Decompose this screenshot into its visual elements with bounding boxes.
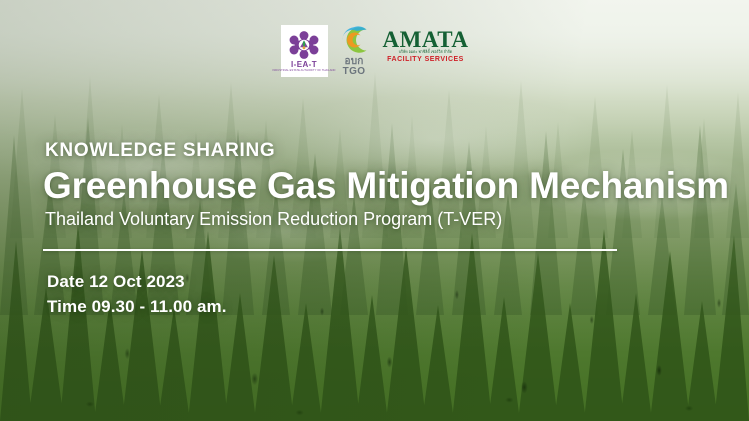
divider bbox=[43, 249, 617, 251]
logo-tgo: อบก TGO bbox=[338, 24, 371, 78]
event-poster: I-EA-T INDUSTRIAL ESTATE AUTHORITY OF TH… bbox=[0, 0, 749, 421]
amata-thai-text: บริษัท อมตะ ฟาซิลิตี้ เซอร์วิส จำกัด bbox=[399, 50, 452, 54]
page-title: Greenhouse Gas Mitigation Mechanism bbox=[43, 167, 729, 205]
eyebrow-label: KNOWLEDGE SHARING bbox=[45, 141, 729, 160]
ieat-subtext: INDUSTRIAL ESTATE AUTHORITY OF THAILAND bbox=[273, 70, 336, 73]
logo-ieat: I-EA-T INDUSTRIAL ESTATE AUTHORITY OF TH… bbox=[281, 25, 328, 77]
poster-content: KNOWLEDGE SHARING Greenhouse Gas Mitigat… bbox=[43, 141, 729, 320]
tgo-wordmark: TGO bbox=[343, 67, 366, 77]
ieat-flower-icon bbox=[287, 30, 321, 60]
amata-wordmark: AMATA bbox=[383, 29, 469, 50]
page-subtitle: Thailand Voluntary Emission Reduction Pr… bbox=[45, 209, 729, 231]
event-date: Date 12 Oct 2023 bbox=[47, 270, 729, 295]
logo-amata: AMATA บริษัท อมตะ ฟาซิลิตี้ เซอร์วิส จำก… bbox=[383, 24, 469, 78]
event-time: Time 09.30 - 11.00 am. bbox=[47, 295, 729, 320]
amata-subtext: FACILITY SERVICES bbox=[387, 56, 464, 63]
logo-bar: I-EA-T INDUSTRIAL ESTATE AUTHORITY OF TH… bbox=[0, 24, 749, 78]
tgo-crescent-icon bbox=[338, 25, 371, 55]
event-meta: Date 12 Oct 2023 Time 09.30 - 11.00 am. bbox=[47, 270, 729, 319]
